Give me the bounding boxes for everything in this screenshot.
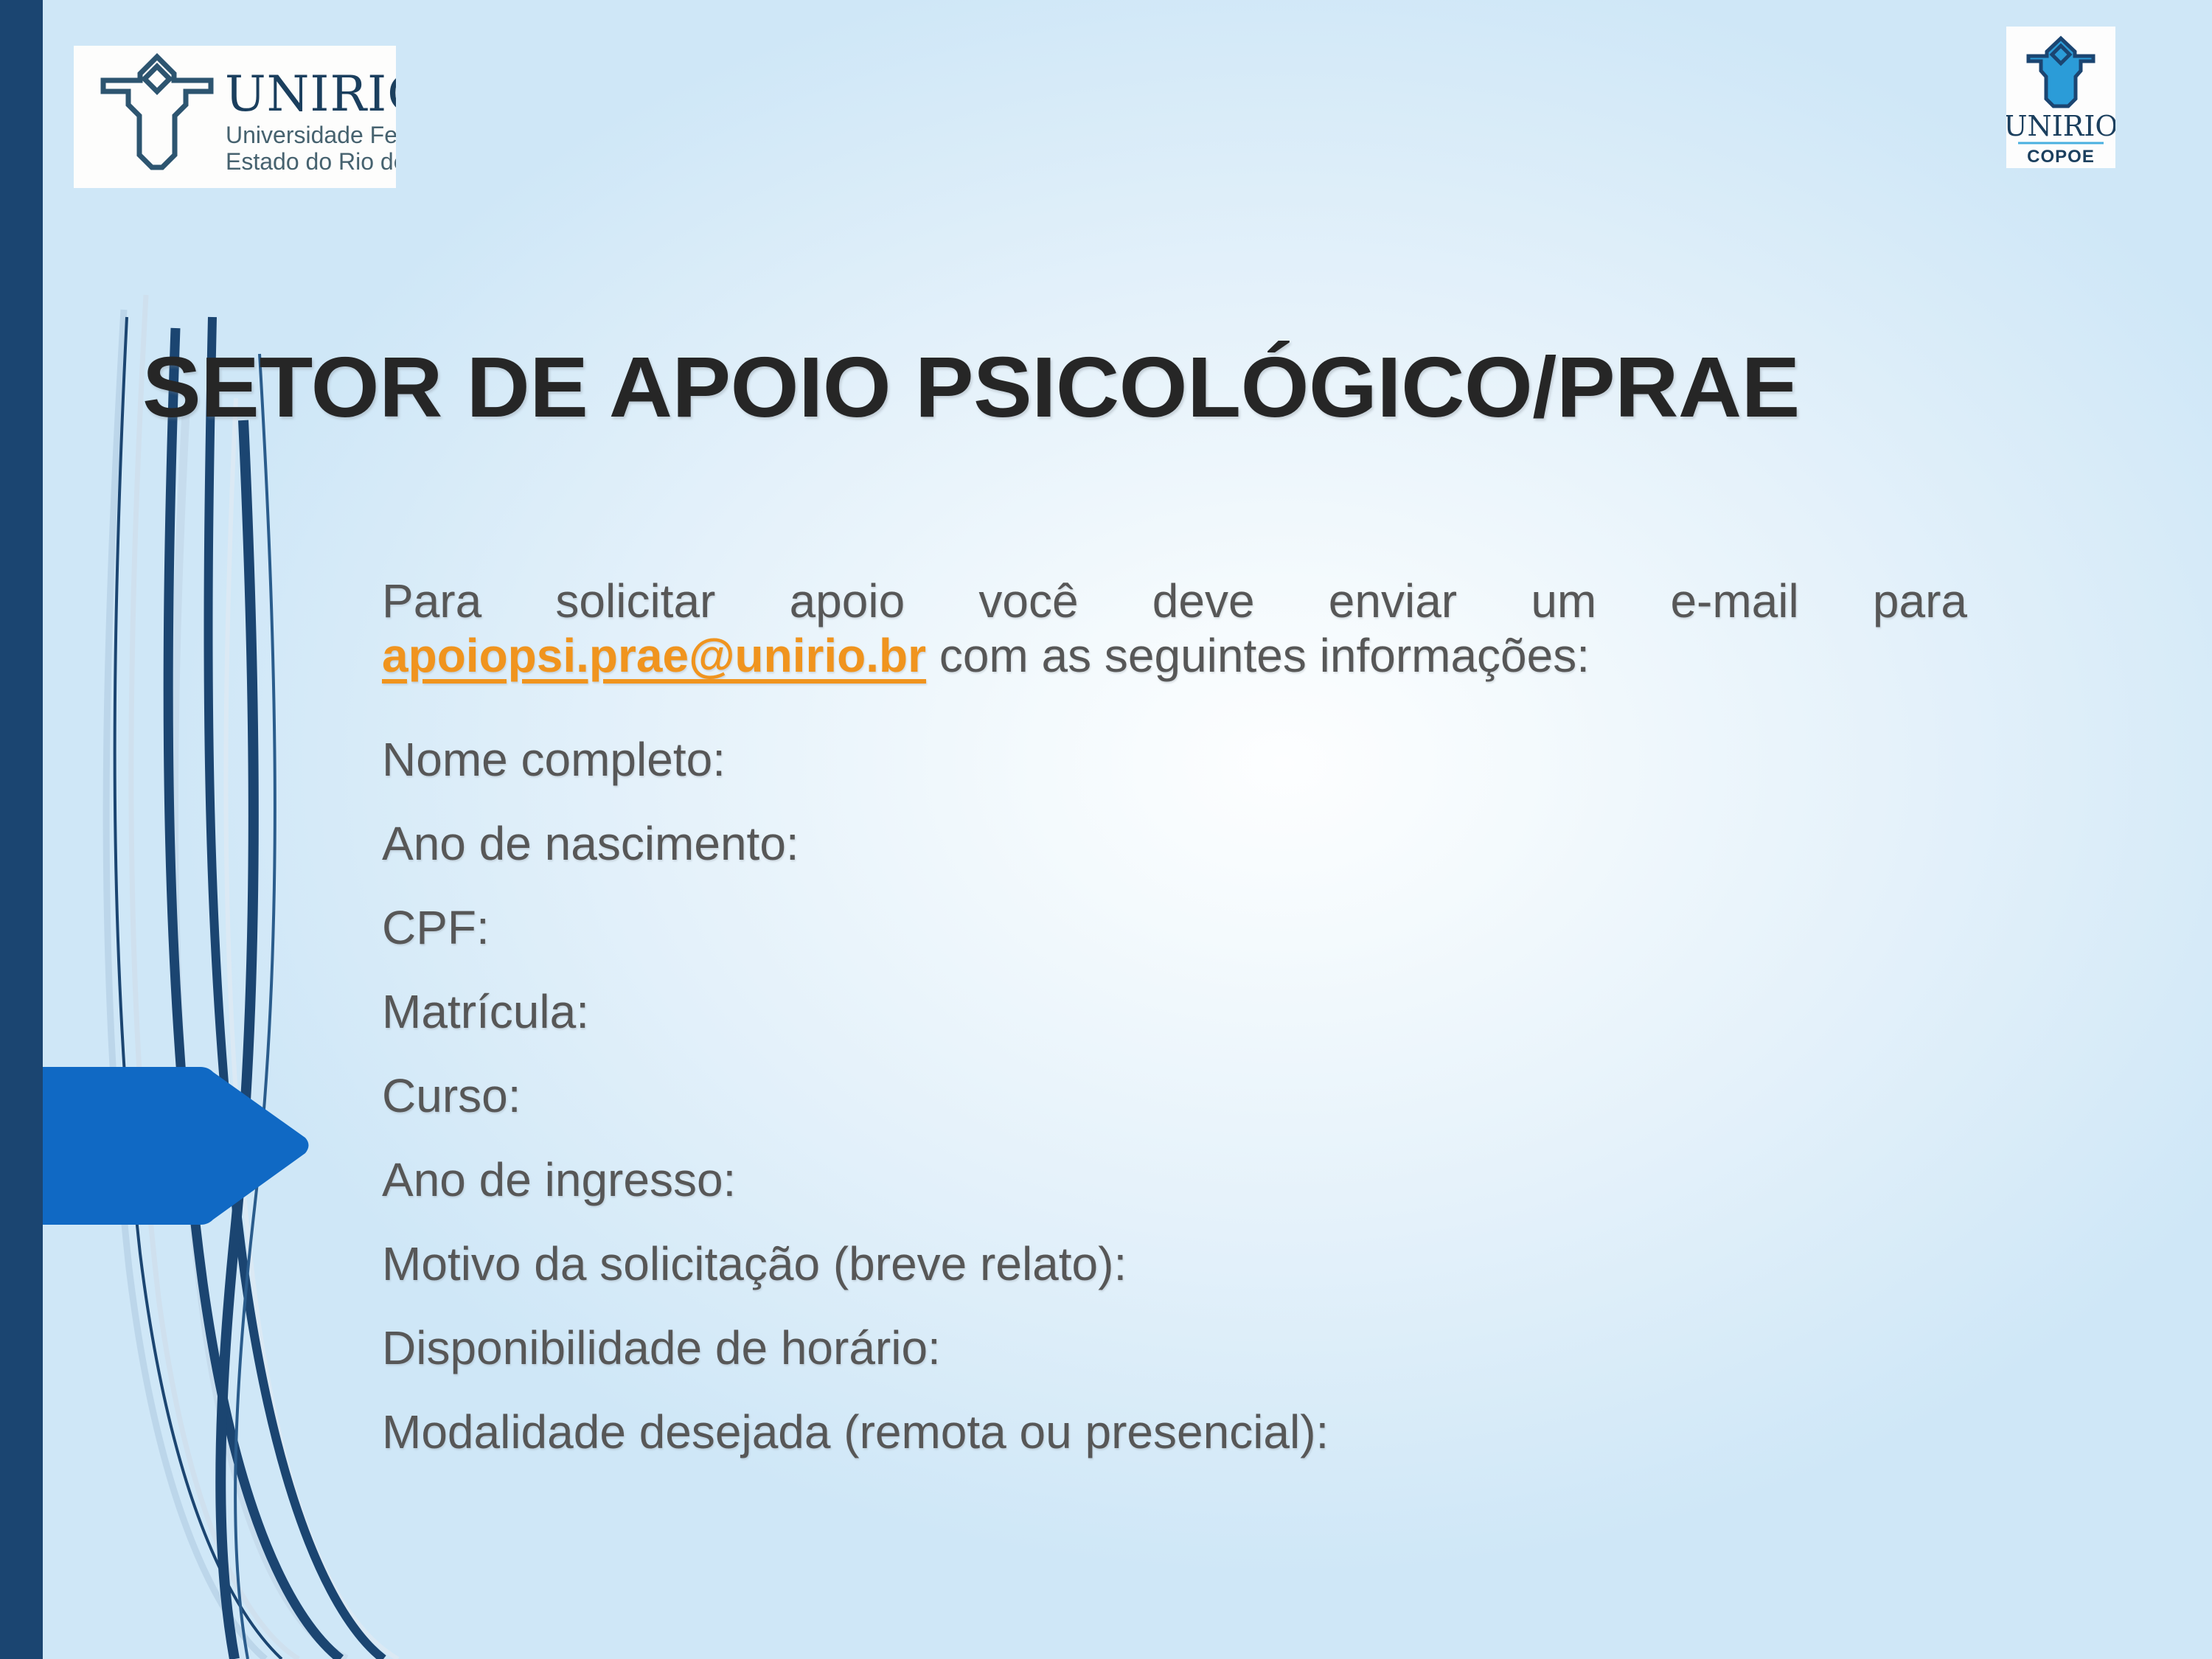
blue-arrow-shape bbox=[0, 1064, 310, 1228]
slide: UNIRIO Universidade Federal do Estado do… bbox=[0, 0, 2212, 1659]
intro-text-after-link: com as seguintes informações: bbox=[926, 629, 1590, 682]
svg-text:COPOE: COPOE bbox=[2027, 147, 2095, 167]
list-item: Curso: bbox=[382, 1072, 2004, 1119]
body-content: Para solicitar apoio você deve enviar um… bbox=[382, 574, 2004, 1492]
copoe-logo-svg: UNIRIO COPOE bbox=[2006, 27, 2115, 168]
left-navy-bar bbox=[0, 0, 43, 1659]
svg-text:UNIRIO: UNIRIO bbox=[2006, 110, 2115, 142]
list-item: Ano de ingresso: bbox=[382, 1156, 2004, 1203]
svg-text:Universidade Federal do: Universidade Federal do bbox=[226, 122, 396, 148]
email-link[interactable]: apoiopsi.prae@unirio.br bbox=[382, 629, 926, 682]
list-item: Motivo da solicitação (breve relato): bbox=[382, 1240, 2004, 1287]
requested-fields-list: Nome completo: Ano de nascimento: CPF: M… bbox=[382, 736, 2004, 1455]
list-item: CPF: bbox=[382, 904, 2004, 951]
svg-text:UNIRIO: UNIRIO bbox=[225, 66, 396, 122]
list-item: Ano de nascimento: bbox=[382, 820, 2004, 867]
unirio-logo: UNIRIO Universidade Federal do Estado do… bbox=[74, 46, 396, 188]
list-item: Matrícula: bbox=[382, 988, 2004, 1035]
intro-paragraph: Para solicitar apoio você deve enviar um… bbox=[382, 574, 1967, 683]
list-item: Modalidade desejada (remota ou presencia… bbox=[382, 1408, 2004, 1455]
list-item: Nome completo: bbox=[382, 736, 2004, 783]
copoe-logo: UNIRIO COPOE bbox=[2006, 27, 2115, 168]
page-title: SETOR DE APOIO PSICOLÓGICO/PRAE bbox=[142, 338, 1800, 437]
intro-text-before-link: Para solicitar apoio você deve enviar um… bbox=[382, 574, 1967, 627]
unirio-logo-svg: UNIRIO Universidade Federal do Estado do… bbox=[74, 46, 396, 188]
svg-text:Estado do Rio de Janeiro: Estado do Rio de Janeiro bbox=[226, 148, 396, 175]
list-item: Disponibilidade de horário: bbox=[382, 1324, 2004, 1371]
